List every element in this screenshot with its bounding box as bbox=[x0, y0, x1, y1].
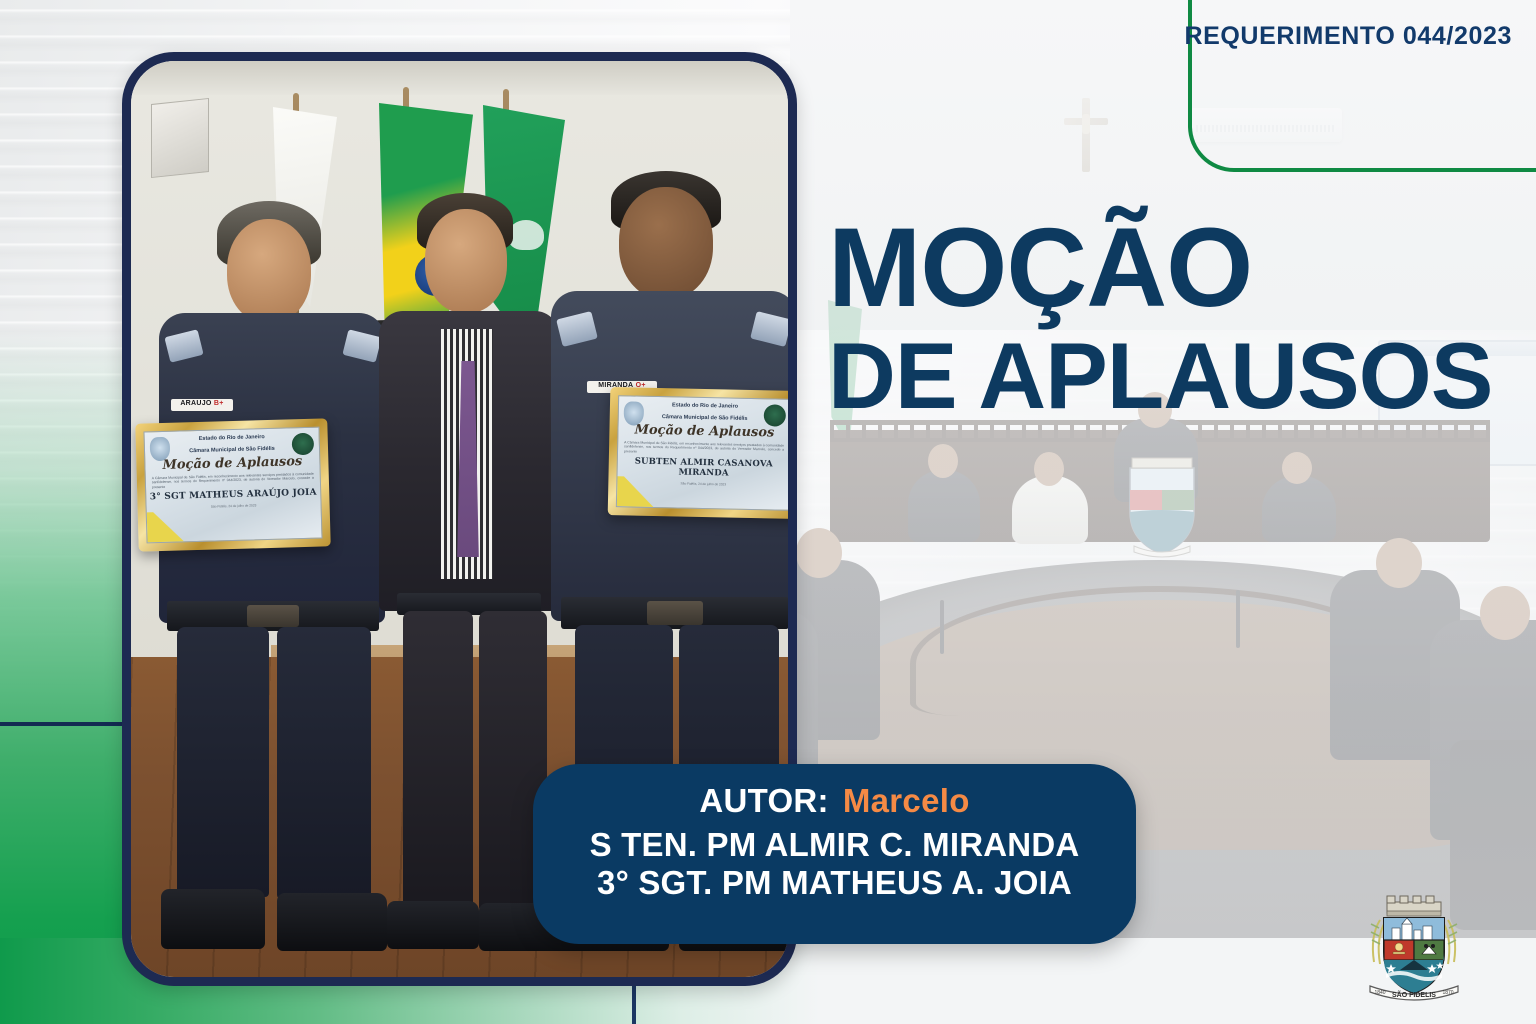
photo-ceiling-trim bbox=[131, 61, 788, 95]
author-row: AUTOR:Marcelo bbox=[533, 782, 1136, 820]
officer-left-boot bbox=[161, 889, 265, 949]
plaque-left-signature: São Fidélis, 24 de julho de 2023 bbox=[147, 502, 321, 511]
officer-right-belt-buckle bbox=[647, 601, 703, 625]
coat-of-arms-year-right: 1870 bbox=[1442, 990, 1453, 996]
plaque-left-body: A Câmara Municipal de São Fidélis, em re… bbox=[152, 472, 314, 490]
plaque-right-ribbon bbox=[617, 476, 678, 507]
title-line-2: DE APLAUSOS bbox=[828, 328, 1528, 424]
author-label: AUTOR: bbox=[699, 782, 829, 819]
officer-left-nametag: ARAUJO B+ bbox=[171, 399, 233, 411]
honoree-line-1: S TEN. PM ALMIR C. MIRANDA bbox=[533, 826, 1136, 864]
coat-of-arms-year-left: 1840 bbox=[1374, 990, 1385, 996]
poster-canvas: REQUERIMENTO 044/2023 MOÇÃO DE APLAUSOS bbox=[0, 0, 1536, 1024]
honoree-line-2: 3° SGT. PM MATHEUS A. JOIA bbox=[533, 864, 1136, 902]
officer-left-boot bbox=[277, 893, 387, 951]
officer-left-leg bbox=[277, 627, 371, 899]
plaque-left: Estado do Rio de Janeiro Câmara Municipa… bbox=[135, 418, 330, 551]
plaque-left-seal-police bbox=[292, 433, 315, 456]
plaque-left-honoree-name: 3° SGT MATHEUS ARAÚJO JOIA bbox=[146, 488, 320, 503]
plaque-right-title: Moção de Aplausos bbox=[618, 422, 790, 441]
page-title: MOÇÃO DE APLAUSOS bbox=[828, 214, 1528, 423]
title-line-1: MOÇÃO bbox=[828, 214, 1528, 322]
officer-left-leg bbox=[177, 627, 269, 897]
civilian-leg bbox=[403, 611, 473, 911]
plaque-left-face: Estado do Rio de Janeiro Câmara Municipa… bbox=[143, 427, 322, 544]
officer-left-head bbox=[227, 219, 311, 323]
requerimento-label: REQUERIMENTO 044/2023 bbox=[1184, 22, 1512, 51]
plaque-right-face: Estado do Rio de Janeiro Câmara Municipa… bbox=[616, 395, 792, 511]
plaque-left-title: Moção de Aplausos bbox=[145, 454, 319, 474]
civilian-shoe bbox=[387, 901, 479, 949]
plaque-right-body: A Câmara Municipal de São Fidélis, em re… bbox=[624, 440, 784, 457]
author-name: Marcelo bbox=[843, 782, 970, 819]
coat-of-arms-motto: SÃO FIDELIS bbox=[1392, 990, 1436, 999]
civilian-head bbox=[425, 209, 507, 313]
wall-speaker-icon bbox=[151, 98, 209, 178]
plaque-left-ribbon bbox=[147, 511, 208, 543]
officer-left-belt-buckle bbox=[247, 605, 299, 627]
plaque-right: Estado do Rio de Janeiro Câmara Municipa… bbox=[608, 387, 797, 519]
officer-right-head bbox=[619, 187, 713, 299]
author-banner: AUTOR:Marcelo S TEN. PM ALMIR C. MIRANDA… bbox=[533, 764, 1136, 944]
municipal-coat-of-arms: SÃO FIDELIS 1840 1870 bbox=[1360, 890, 1468, 1008]
